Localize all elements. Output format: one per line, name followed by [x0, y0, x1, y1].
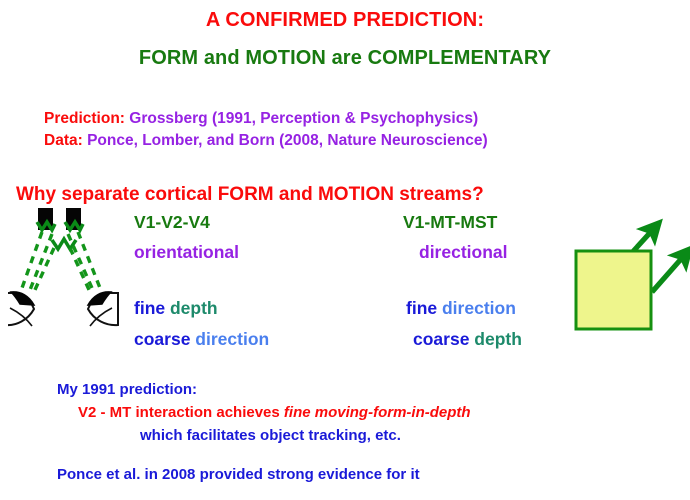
footer-prediction-statement: V2 - MT interaction achieves fine moving… [78, 404, 471, 421]
eye-right [88, 292, 118, 326]
slide-canvas: A CONFIRMED PREDICTION: FORM and MOTION … [0, 0, 690, 500]
stream-right-property-1-qualifier: fine [406, 298, 437, 318]
citation-prediction-label: Prediction: [44, 110, 125, 127]
page-title-secondary: FORM and MOTION are COMPLEMENTARY [0, 47, 690, 70]
stream-right-property-2-value: depth [469, 329, 522, 349]
stream-right-property-1-value: direction [437, 298, 516, 318]
stream-left-property-2-value: direction [190, 329, 269, 349]
yellow-square-with-motion-arrows [555, 200, 690, 340]
two-eyes-viewing-bars-diagram [8, 200, 133, 335]
object-square [576, 251, 651, 329]
stream-left-name: V1-V2-V4 [134, 212, 210, 233]
citation-data-label: Data: [44, 132, 83, 149]
stream-right-property-1: fine direction [406, 298, 516, 319]
citation-data: Data: Ponce, Lomber, and Born (2008, Nat… [44, 132, 488, 150]
stream-right-property-2-qualifier: coarse [413, 329, 469, 349]
stream-right-property-2: coarse depth [413, 329, 522, 350]
zigzag-marks-group [37, 222, 83, 249]
page-title-primary: A CONFIRMED PREDICTION: [0, 9, 690, 32]
footer-evidence-statement: Ponce et al. in 2008 provided strong evi… [57, 466, 420, 483]
eye-left [8, 292, 34, 326]
citation-prediction: Prediction: Grossberg (1991, Perception … [44, 110, 478, 128]
stream-left-property-2: coarse direction [134, 329, 269, 350]
footer-prediction-consequence: which facilitates object tracking, etc. [140, 427, 401, 444]
stream-left-property-2-qualifier: coarse [134, 329, 190, 349]
footer-prediction-statement-prefix: V2 - MT interaction achieves [78, 404, 284, 421]
stream-right-name: V1-MT-MST [403, 212, 497, 233]
stream-right-attribute: directional [419, 242, 508, 263]
citation-prediction-text: Grossberg (1991, Perception & Psychophys… [125, 110, 478, 127]
motion-arrow-lower [652, 250, 689, 292]
citation-data-text: Ponce, Lomber, and Born (2008, Nature Ne… [83, 132, 488, 149]
stream-left-attribute: orientational [134, 242, 239, 263]
footer-prediction-statement-emphasis: fine moving-form-in-depth [284, 404, 471, 421]
stream-left-property-1-value: depth [165, 298, 218, 318]
stream-left-property-1: fine depth [134, 298, 218, 319]
stream-left-property-1-qualifier: fine [134, 298, 165, 318]
footer-prediction-heading: My 1991 prediction: [57, 381, 197, 398]
